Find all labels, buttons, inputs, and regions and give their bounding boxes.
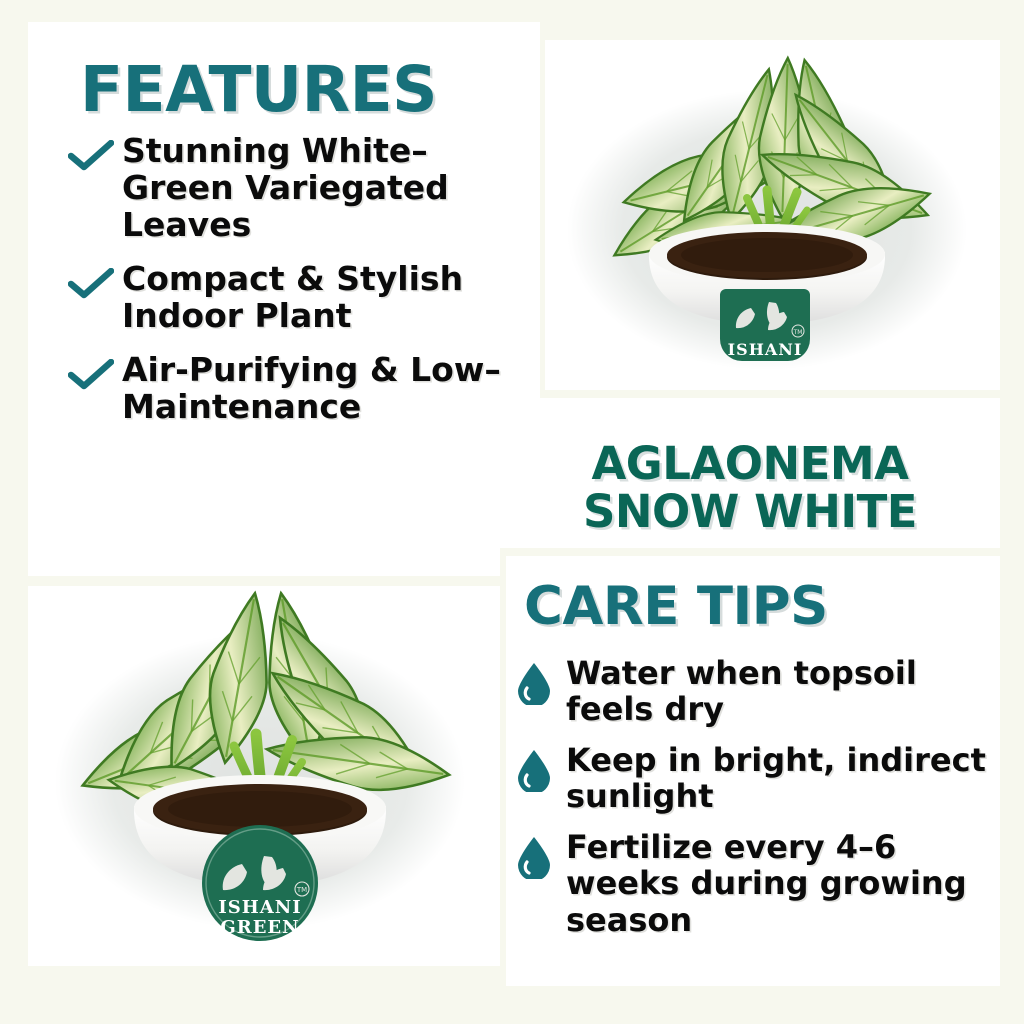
- svg-text:TM: TM: [793, 329, 803, 336]
- features-panel-footer: [28, 530, 500, 576]
- check-icon: [68, 261, 122, 304]
- product-photo-bottom: ISHANI GREEN TM: [28, 586, 500, 966]
- care-tip-item: Water when topsoil feels dry: [514, 655, 1000, 728]
- care-tip-label: Water when topsoil feels dry: [566, 655, 1000, 728]
- infographic-canvas: ISHANI TM: [0, 0, 1024, 1024]
- water-drop-icon: [514, 829, 566, 883]
- svg-text:ISHANI: ISHANI: [218, 897, 301, 918]
- product-title-line2: SNOW WHITE: [500, 488, 1000, 536]
- feature-item-label: Air-Purifying & Low–Maintenance: [122, 352, 538, 426]
- care-tip-label: Fertilize every 4–6 weeks during growing…: [566, 829, 1000, 938]
- feature-item-label: Stunning White–Green Variegated Leaves: [122, 133, 538, 244]
- svg-text:TM: TM: [296, 886, 307, 894]
- water-drop-icon: [514, 742, 566, 796]
- product-title: AGLAONEMA SNOW WHITE: [500, 440, 1000, 535]
- care-tips-heading: CARE TIPS: [524, 580, 828, 633]
- check-icon: [68, 133, 122, 176]
- care-tips-list: Water when topsoil feels dry Keep in bri…: [514, 655, 1000, 952]
- product-photo-top: ISHANI TM: [545, 40, 1000, 390]
- product-title-line1: AGLAONEMA: [500, 440, 1000, 488]
- care-tip-item: Fertilize every 4–6 weeks during growing…: [514, 829, 1000, 938]
- check-icon: [68, 352, 122, 395]
- pot-logo-bottom: ISHANI GREEN TM: [202, 825, 318, 941]
- svg-text:ISHANI: ISHANI: [728, 340, 803, 359]
- pot-logo-top: ISHANI TM: [720, 289, 810, 361]
- svg-text:GREEN: GREEN: [220, 917, 299, 938]
- feature-item: Stunning White–Green Variegated Leaves: [68, 133, 538, 244]
- features-heading: FEATURES: [80, 58, 437, 121]
- care-tip-label: Keep in bright, indirect sunlight: [566, 742, 1000, 815]
- water-drop-icon: [514, 655, 566, 709]
- care-tip-item: Keep in bright, indirect sunlight: [514, 742, 1000, 815]
- feature-item: Air-Purifying & Low–Maintenance: [68, 352, 538, 426]
- features-list: Stunning White–Green Variegated Leaves C…: [68, 133, 538, 443]
- feature-item: Compact & Stylish Indoor Plant: [68, 261, 538, 335]
- feature-item-label: Compact & Stylish Indoor Plant: [122, 261, 538, 335]
